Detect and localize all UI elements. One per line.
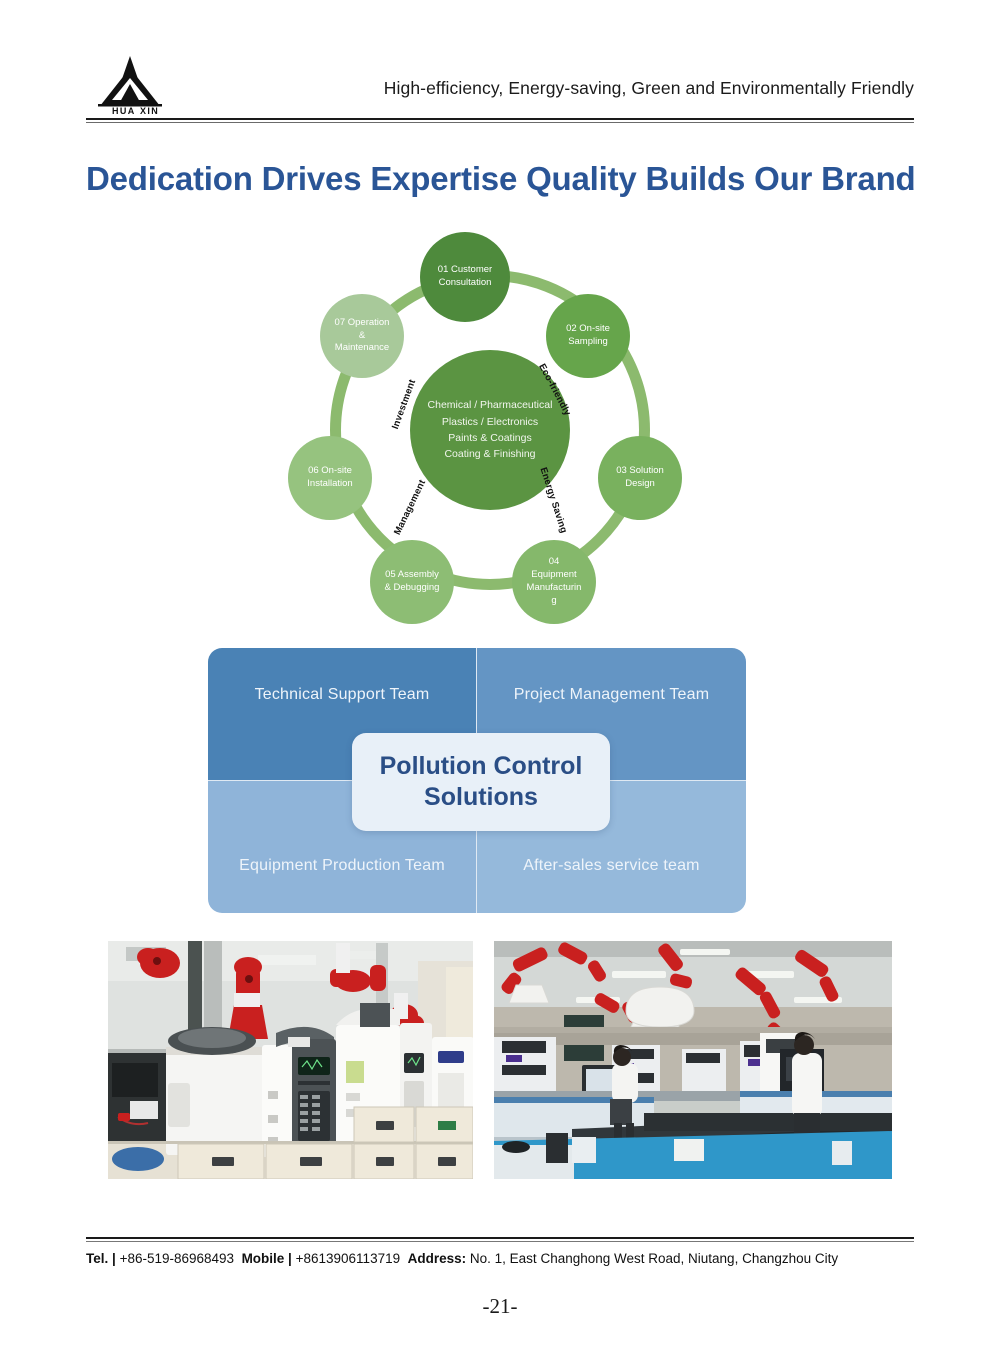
wheel-hub-text: Chemical / PharmaceuticalPlastics / Elec…: [428, 397, 553, 462]
quadrant-bottom-right-label: After-sales service team: [523, 857, 699, 875]
header-divider: [86, 118, 914, 120]
service-process-wheel: Chemical / PharmaceuticalPlastics / Elec…: [280, 232, 700, 628]
quadrant-center-label: Pollution Control Solutions: [352, 751, 610, 814]
wheel-node-04[interactable]: 04EquipmentManufacturing: [512, 540, 596, 624]
footer-address-label: Address:: [408, 1251, 467, 1266]
wheel-node-03-label: 03 SolutionDesign: [616, 465, 664, 491]
wheel-node-06[interactable]: 06 On-siteInstallation: [288, 436, 372, 520]
company-logo: HUA XIN: [86, 54, 182, 116]
footer-mobile-label: Mobile |: [242, 1251, 292, 1266]
page-number: -21-: [0, 1294, 1000, 1319]
photo-lab-technicians: [494, 941, 892, 1179]
page-header: HUA XIN High-efficiency, Energy-saving, …: [86, 52, 914, 124]
wheel-node-01-label: 01 CustomerConsultation: [438, 264, 492, 290]
footer-tel-label: Tel. |: [86, 1251, 116, 1266]
header-tagline: High-efficiency, Energy-saving, Green an…: [344, 78, 914, 99]
quadrant-top-left-label: Technical Support Team: [255, 686, 430, 704]
wheel-node-07[interactable]: 07 Operation&Maintenance: [320, 294, 404, 378]
wheel-node-01[interactable]: 01 CustomerConsultation: [420, 232, 510, 322]
wheel-node-05[interactable]: 05 Assembly& Debugging: [370, 540, 454, 624]
footer-divider: [86, 1237, 914, 1239]
footer-divider-thin: [86, 1241, 914, 1242]
wheel-node-07-label: 07 Operation&Maintenance: [335, 317, 390, 355]
quadrant-center-badge: Pollution Control Solutions: [352, 733, 610, 831]
header-divider-thin: [86, 122, 914, 123]
footer-tel-value: +86-519-86968493: [120, 1251, 234, 1266]
quadrant-bottom-left-label: Equipment Production Team: [239, 857, 445, 875]
document-page: HUA XIN High-efficiency, Energy-saving, …: [0, 0, 1000, 1367]
svg-text:XIN: XIN: [140, 106, 159, 116]
wheel-node-05-label: 05 Assembly& Debugging: [385, 569, 440, 595]
footer-mobile-value: +8613906113719: [296, 1251, 401, 1266]
footer-contact: Tel. | +86-519-86968493 Mobile | +861390…: [86, 1251, 914, 1266]
wheel-node-02-label: 02 On-siteSampling: [566, 323, 610, 349]
wheel-node-06-label: 06 On-siteInstallation: [307, 465, 352, 491]
svg-text:HUA: HUA: [112, 106, 136, 116]
page-title: Dedication Drives Expertise Quality Buil…: [86, 160, 914, 198]
footer-address-value: No. 1, East Changhong West Road, Niutang…: [470, 1251, 838, 1266]
wheel-node-02[interactable]: 02 On-siteSampling: [546, 294, 630, 378]
wheel-node-03[interactable]: 03 SolutionDesign: [598, 436, 682, 520]
photo-lab-instruments: [108, 941, 473, 1179]
quadrant-top-right-label: Project Management Team: [514, 686, 710, 704]
wheel-node-04-label: 04EquipmentManufacturing: [527, 556, 582, 607]
